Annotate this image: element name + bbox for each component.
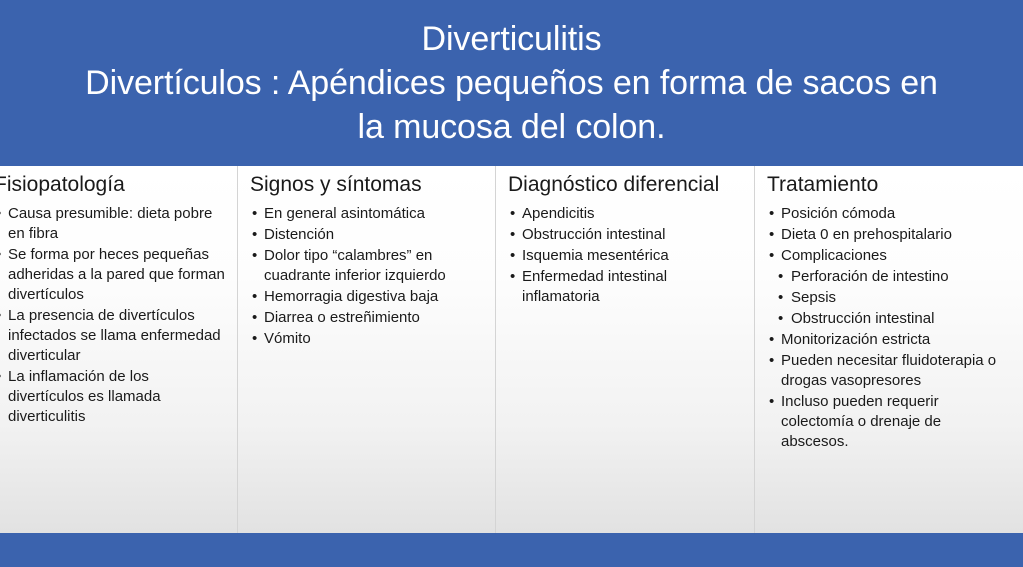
- bullet-list-diagnostico-diferencial: Apendicitis Obstrucción intestinal Isque…: [508, 204, 744, 307]
- list-item: En general asintomática: [250, 204, 485, 224]
- bullet-list-fisiopatologia: Causa presumible: dieta pobre en fibra S…: [0, 204, 227, 427]
- list-item: Vómito: [250, 329, 485, 349]
- list-item: Complicaciones: [767, 246, 1012, 266]
- list-item: Diarrea o estreñimiento: [250, 308, 485, 328]
- list-item: Causa presumible: dieta pobre en fibra: [0, 204, 227, 244]
- column-diagnostico-diferencial: Diagnóstico diferencial Apendicitis Obst…: [496, 166, 754, 533]
- list-item: Se forma por heces pequeñas adheridas a …: [0, 245, 227, 305]
- list-item: Monitorización estricta: [767, 330, 1012, 350]
- slide-title-band: Diverticulitis Divertículos : Apéndices …: [0, 0, 1023, 166]
- slide-title-line-3: la mucosa del colon.: [358, 105, 666, 149]
- list-item: Perforación de intestino: [775, 267, 1012, 287]
- slide: Diverticulitis Divertículos : Apéndices …: [0, 0, 1023, 567]
- bullet-list-signos-y-sintomas: En general asintomática Distención Dolor…: [250, 204, 485, 349]
- column-header-tratamiento: Tratamiento: [767, 172, 1012, 198]
- sub-bullet-list-complicaciones: Perforación de intestino Sepsis Obstrucc…: [767, 267, 1012, 329]
- column-signos-y-sintomas: Signos y síntomas En general asintomátic…: [238, 166, 495, 533]
- list-item: La inflamación de los divertículos es ll…: [0, 367, 227, 427]
- list-item: La presencia de divertículos infectados …: [0, 306, 227, 366]
- list-item: Distención: [250, 225, 485, 245]
- list-item: Pueden necesitar fluidoterapia o drogas …: [767, 351, 1012, 391]
- bullet-list-tratamiento: Posición cómoda Dieta 0 en prehospitalar…: [767, 204, 1012, 452]
- column-header-diagnostico-diferencial: Diagnóstico diferencial: [508, 172, 744, 198]
- column-header-signos-y-sintomas: Signos y síntomas: [250, 172, 485, 198]
- list-item: Incluso pueden requerir colectomía o dre…: [767, 392, 1012, 452]
- list-item: Posición cómoda: [767, 204, 1012, 224]
- list-item: Dieta 0 en prehospitalario: [767, 225, 1012, 245]
- list-item: Enfermedad intestinal inflamatoria: [508, 267, 744, 307]
- list-item: Sepsis: [775, 288, 1012, 308]
- list-item: Isquemia mesentérica: [508, 246, 744, 266]
- list-item: Apendicitis: [508, 204, 744, 224]
- list-item: Dolor tipo “calambres” en cuadrante infe…: [250, 246, 485, 286]
- content-panel: Fisiopatología Causa presumible: dieta p…: [0, 166, 1023, 533]
- slide-footer-band: [0, 533, 1023, 567]
- list-item: Obstrucción intestinal: [508, 225, 744, 245]
- slide-title-line-1: Diverticulitis: [422, 17, 602, 61]
- list-item: Obstrucción intestinal: [775, 309, 1012, 329]
- list-item: Hemorragia digestiva baja: [250, 287, 485, 307]
- slide-title-line-2: Divertículos : Apéndices pequeños en for…: [85, 61, 938, 105]
- column-header-fisiopatologia: Fisiopatología: [0, 172, 227, 198]
- column-fisiopatologia: Fisiopatología Causa presumible: dieta p…: [0, 166, 237, 533]
- column-tratamiento: Tratamiento Posición cómoda Dieta 0 en p…: [755, 166, 1020, 533]
